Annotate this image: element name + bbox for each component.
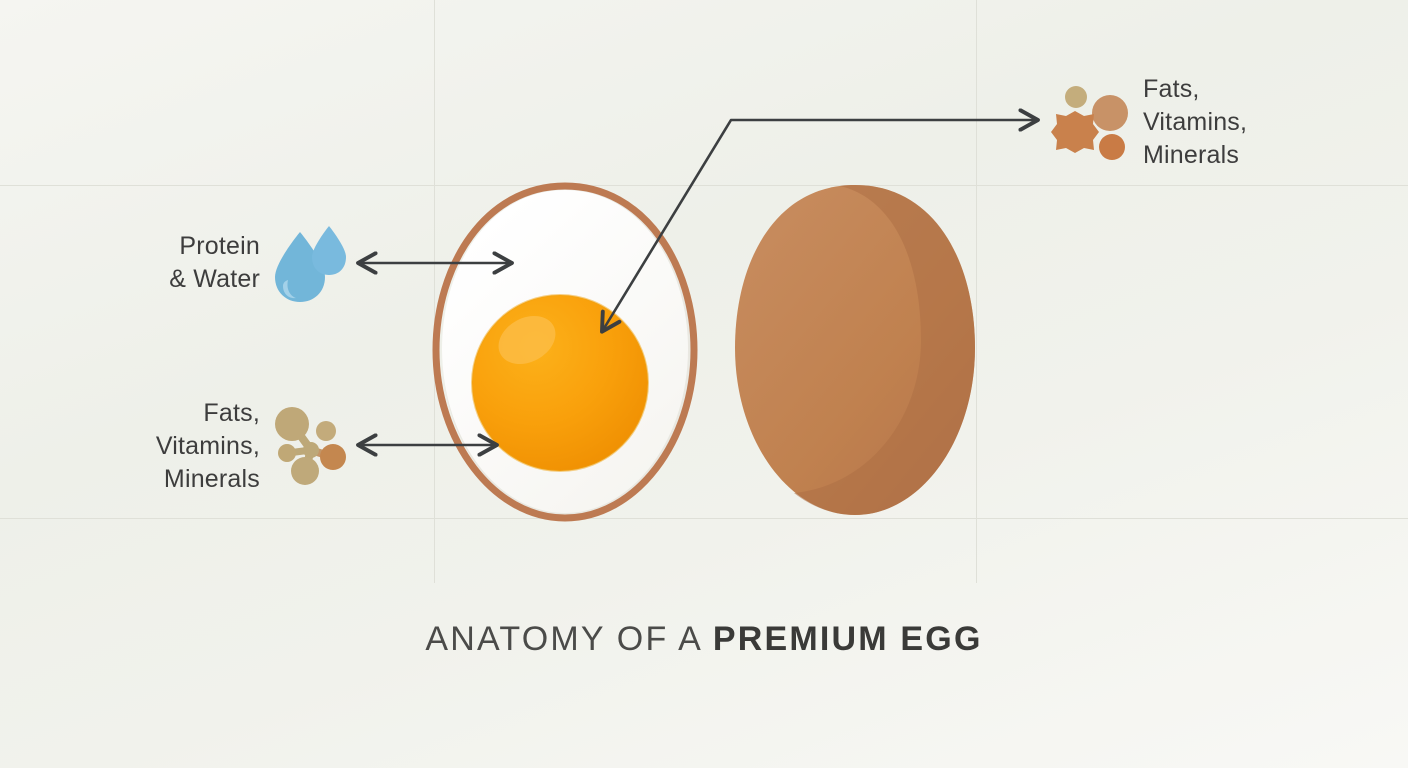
infographic-canvas: Protein & Water Fats, Vitamins, Minerals… <box>0 0 1408 768</box>
page-title: ANATOMY OF A PREMIUM EGG <box>0 620 1408 659</box>
label-fats-vitamins-minerals-left: Fats, Vitamins, Minerals <box>60 397 260 496</box>
cut-egg-illustration <box>436 186 694 518</box>
whole-egg-illustration <box>735 185 975 515</box>
label-fats-vitamins-minerals-right: Fats, Vitamins, Minerals <box>1143 73 1373 172</box>
water-drop-icon <box>275 226 346 302</box>
molecule-cluster-icon <box>275 407 346 485</box>
title-emphasis: PREMIUM EGG <box>713 620 983 658</box>
label-protein-water: Protein & Water <box>60 230 260 296</box>
nutrient-cluster-icon <box>1051 86 1128 160</box>
title-lead: ANATOMY OF A <box>425 620 712 658</box>
